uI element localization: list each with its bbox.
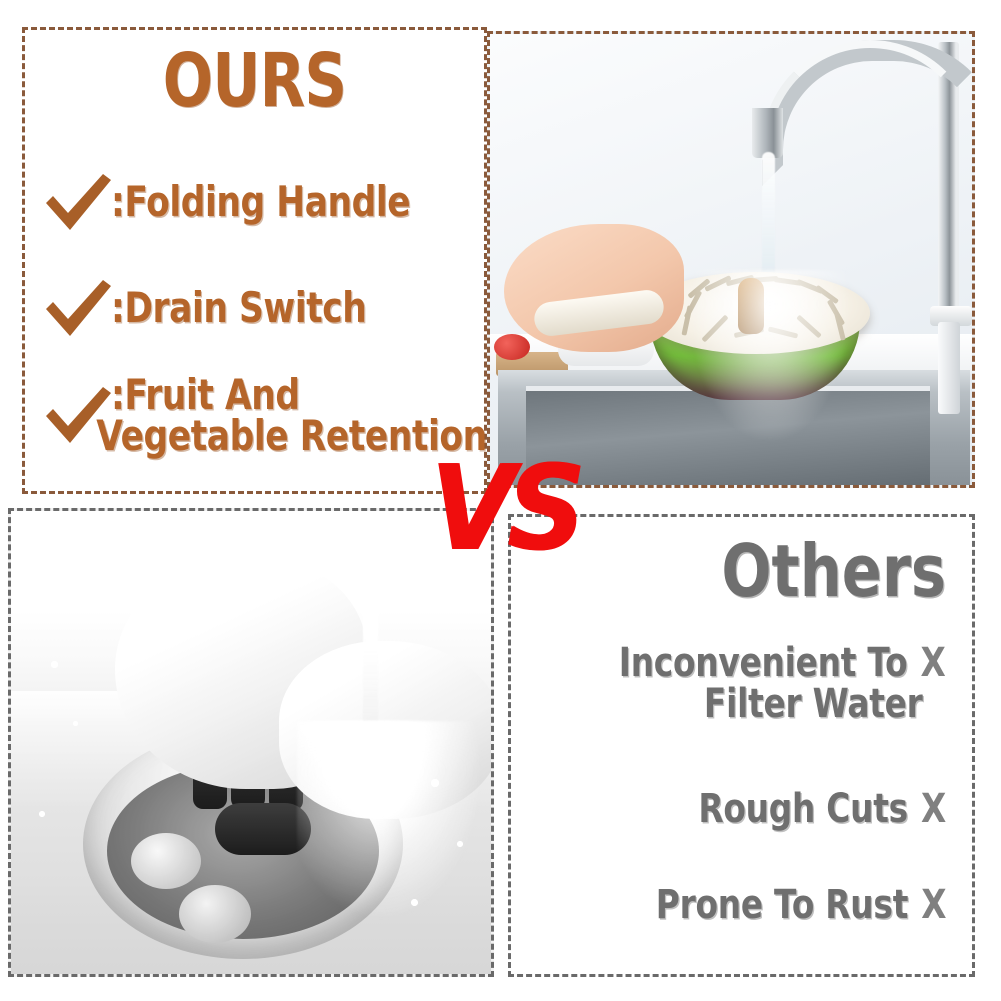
ours-panel: OURS :Folding Handle :Drain Switch :Frui… xyxy=(22,27,487,494)
ours-product-photo xyxy=(487,31,975,488)
vs-badge: VS xyxy=(430,449,577,567)
x-icon: X xyxy=(921,643,946,684)
check-icon xyxy=(43,276,115,340)
others-product-photo xyxy=(8,508,494,977)
others-panel: Others Inconvenient ToXFilter Water Roug… xyxy=(508,514,975,977)
others-con-label: Prone To Rust xyxy=(655,882,907,928)
others-con-row: Prone To RustX xyxy=(655,885,946,926)
tomato xyxy=(494,334,530,360)
hand xyxy=(504,224,684,352)
others-con-row: Rough CutsX xyxy=(698,789,946,830)
ours-feature-row: :Drain Switch xyxy=(43,276,422,340)
faucet-spout xyxy=(752,108,783,158)
ours-feature-label: :Drain Switch xyxy=(111,287,366,328)
others-con-label: Rough Cuts xyxy=(698,786,908,832)
ours-feature-label-line2: Vegetable Retention xyxy=(96,415,487,456)
others-con-label-line1: Inconvenient To xyxy=(619,640,908,686)
check-icon xyxy=(43,170,115,234)
x-icon: X xyxy=(921,885,946,926)
others-con-label-line2: Filter Water xyxy=(619,684,923,725)
x-icon: X xyxy=(921,789,946,830)
ours-title: OURS xyxy=(71,44,438,118)
water-stream xyxy=(363,517,378,727)
water-stream xyxy=(762,152,775,278)
others-title: Others xyxy=(721,535,946,607)
ours-feature-label: :Folding Handle xyxy=(111,181,410,222)
ours-feature-row: :Folding Handle xyxy=(43,170,476,234)
others-con-row: Inconvenient ToXFilter Water xyxy=(619,643,946,725)
comparison-infographic: OURS :Folding Handle :Drain Switch :Frui… xyxy=(0,0,1001,1001)
